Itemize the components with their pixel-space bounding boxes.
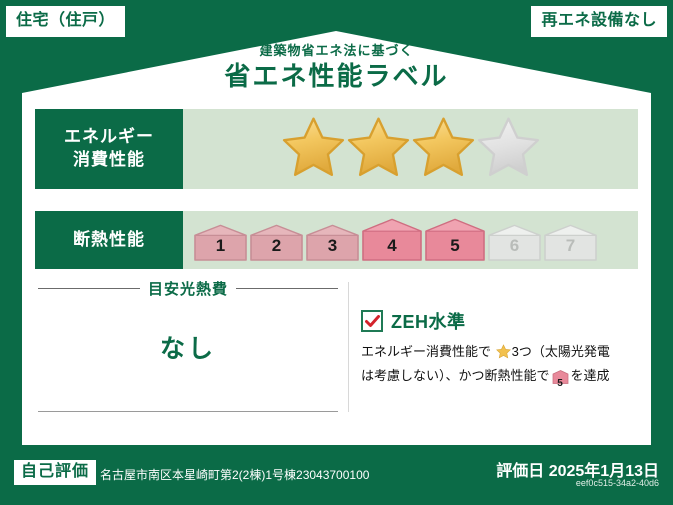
energy-performance-label: エネルギー 消費性能 — [35, 109, 183, 189]
energy-performance-row: エネルギー 消費性能 — [35, 109, 638, 189]
utility-cost-heading: 目安光熱費 — [38, 278, 338, 299]
energy-label-line2: 消費性能 — [73, 149, 145, 172]
insulation-performance-label: 断熱性能 — [35, 211, 183, 269]
grade-house-inactive: 6 — [487, 224, 542, 262]
grade-house-active: 5 — [424, 218, 486, 262]
grade-house-active: 1 — [193, 224, 248, 262]
grade-house-active: 3 — [305, 224, 360, 262]
utility-cost-value: なし — [38, 329, 338, 365]
heading-rule-left — [38, 288, 140, 289]
insulation-grade-scale: 1234567 — [183, 211, 638, 269]
grade-house-inactive: 7 — [543, 224, 598, 262]
grade-house-active: 2 — [249, 224, 304, 262]
star-filled-icon — [282, 115, 345, 183]
inline-grade-number: 5 — [552, 379, 569, 389]
grade-house-list: 1234567 — [193, 218, 598, 262]
self-evaluation-badge: 自己評価 — [14, 460, 96, 485]
zeh-title-text: ZEH水準 — [391, 308, 466, 334]
zeh-description: エネルギー消費性能で 3つ（太陽光発電 は考慮しない）、かつ断熱性能で 5 を達… — [361, 341, 641, 390]
zeh-desc-part3: は考慮しない）、かつ断熱性能で — [361, 368, 550, 383]
evaluation-date-label: 評価日 — [496, 463, 544, 480]
zeh-desc-part1: エネルギー消費性能で — [361, 344, 491, 359]
heading-rule-right — [236, 288, 338, 289]
zeh-title-row: ZEH水準 — [361, 308, 641, 334]
label-identifier-hash: eef0c515-34a2-40d6 — [576, 478, 659, 488]
house-roof-shape — [22, 31, 651, 95]
zeh-standard-block: ZEH水準 エネルギー消費性能で 3つ（太陽光発電 は考慮しない）、かつ断熱性能… — [361, 308, 641, 390]
section-divider — [348, 282, 349, 412]
star-empty-icon — [477, 115, 540, 183]
insulation-label-text: 断熱性能 — [73, 229, 145, 252]
zeh-desc-part2: 3つ（太陽光発電 — [512, 344, 610, 359]
utility-cost-underline — [38, 411, 338, 412]
energy-star-rating — [183, 109, 638, 189]
insulation-performance-row: 断熱性能 1234567 — [35, 211, 638, 269]
zeh-checkbox-checked-icon — [361, 310, 383, 332]
grade-house-active: 4 — [361, 218, 423, 262]
energy-label-line1: エネルギー — [64, 126, 154, 149]
inline-star-icon — [492, 347, 511, 362]
inline-grade-house-icon: 5 — [552, 369, 569, 390]
zeh-desc-part4: を達成 — [571, 368, 610, 383]
utility-cost-heading-text: 目安光熱費 — [148, 278, 228, 299]
star-filled-icon — [347, 115, 410, 183]
utility-cost-section: 目安光熱費 なし — [38, 278, 338, 365]
star-list — [282, 115, 540, 183]
property-address: 名古屋市南区本星崎町第2(2棟)1号棟23043700100 — [100, 466, 369, 483]
energy-performance-label: 住宅（住戸） 再エネ設備なし 建築物省エネ法に基づく 省エネ性能ラベル エネルギ… — [0, 0, 673, 505]
star-filled-icon — [412, 115, 475, 183]
label-footer: 自己評価 名古屋市南区本星崎町第2(2棟)1号棟23043700100 評価日 … — [0, 452, 673, 505]
